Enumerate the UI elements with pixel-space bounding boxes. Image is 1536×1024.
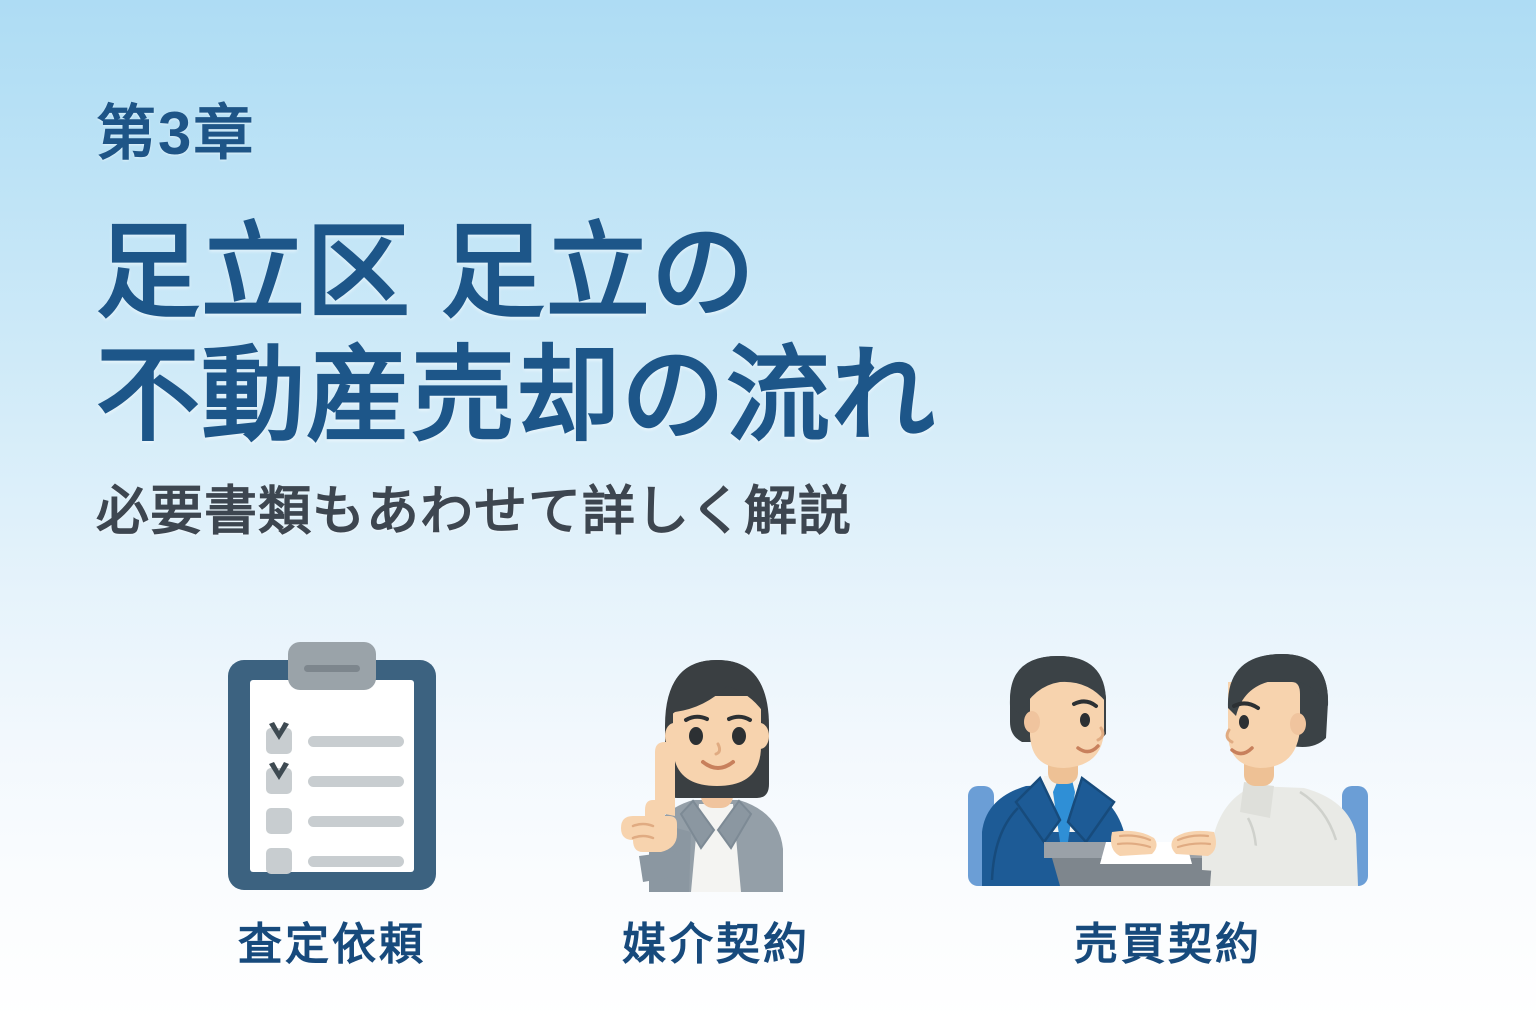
chapter-label: 第3章 (96, 104, 1136, 164)
poster-canvas: 第3章 足立区 足立の 不動産売却の流れ 必要書類もあわせて詳しく解説 (0, 0, 1536, 1024)
check-icon (268, 762, 290, 786)
two-people-signing-icon (940, 630, 1396, 892)
page-title-line-1: 足立区 足立の (96, 212, 1136, 335)
header-text-block: 第3章 足立区 足立の 不動産売却の流れ 必要書類もあわせて詳しく解説 (96, 104, 1136, 542)
page-subtitle: 必要書類もあわせて詳しく解説 (96, 483, 1136, 541)
clipboard-checklist-icon (172, 630, 492, 892)
step-label-mediation: 媒介契約 (556, 908, 876, 972)
check-icon (268, 722, 290, 746)
step-label-assessment: 査定依頼 (172, 908, 492, 972)
page-title-line-2: 不動産売却の流れ (96, 335, 1136, 458)
woman-pointing-icon (556, 630, 876, 892)
step-mediation: 媒介契約 (556, 630, 876, 990)
steps-row: 査定依頼 (0, 630, 1536, 990)
step-label-contract: 売買契約 (940, 908, 1396, 972)
step-contract: 売買契約 (940, 630, 1396, 990)
step-assessment: 査定依頼 (172, 630, 492, 990)
